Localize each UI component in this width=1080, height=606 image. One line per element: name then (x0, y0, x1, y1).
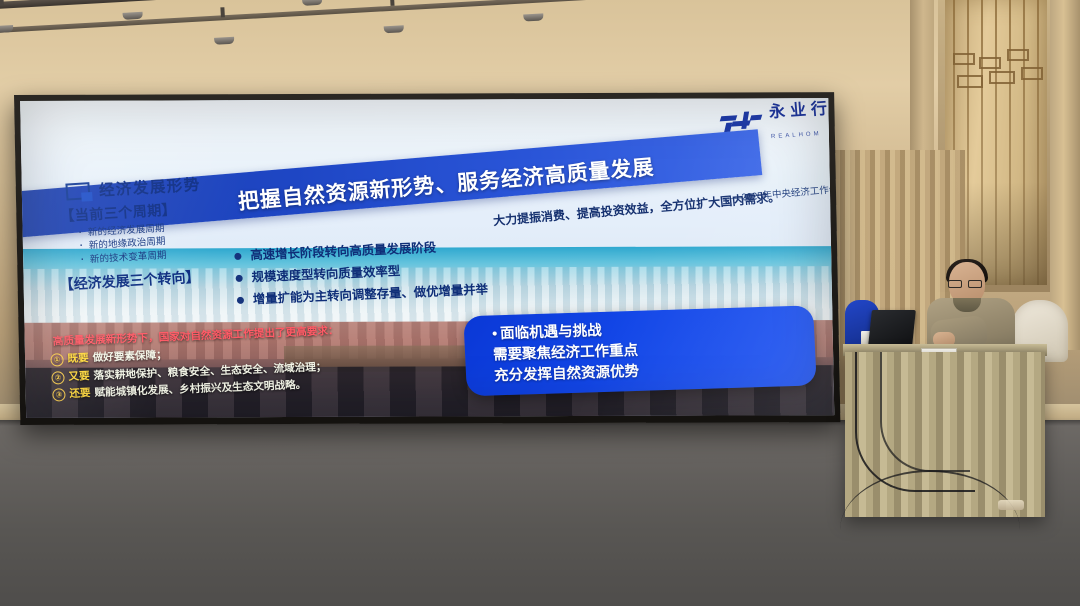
laptop-screen (868, 310, 916, 346)
item-number: ① (50, 353, 64, 366)
spotlight-icon (297, 0, 325, 9)
spotlight-icon (0, 0, 17, 36)
item-emphasis: 还要 (69, 385, 91, 403)
glasses-icon (948, 280, 985, 288)
spotlight-icon (209, 7, 237, 48)
callout-box: 面临机遇与挑战 需要聚焦经济工作重点 充分发挥自然资源优势 (463, 305, 816, 396)
item-emphasis: 又要 (68, 368, 90, 386)
led-wall-screen[interactable]: 永业行 REALHOM 把握自然资源新形势、服务经济高质量发展 ——2025年中… (14, 92, 840, 425)
spotlight-icon (519, 0, 547, 25)
floor-object (998, 500, 1024, 510)
spotlight-icon (379, 0, 407, 37)
cycles-list: 新的经济发展周期 新的地缘政治周期 新的技术变革周期 (75, 222, 167, 267)
presentation-slide: 永业行 REALHOM 把握自然资源新形势、服务经济高质量发展 ——2025年中… (20, 98, 834, 418)
item-number: ③ (52, 388, 66, 401)
logo-text-cn: 永业行 (768, 98, 833, 122)
power-cable (880, 352, 970, 472)
item-number: ② (51, 371, 65, 384)
wall-pillar (1050, 0, 1080, 350)
square-badge-icon (65, 182, 90, 200)
turns-list: 高速增长阶段转向高质量发展阶段 规模速度型转向质量效率型 增量扩能为主转向调整存… (234, 235, 489, 311)
spotlight-icon (118, 0, 146, 23)
item-emphasis: 既要 (67, 350, 89, 368)
slide-surface: 永业行 REALHOM 把握自然资源新形势、服务经济高质量发展 ——2025年中… (20, 98, 834, 418)
screen-bezel: 永业行 REALHOM 把握自然资源新形势、服务经济高质量发展 ——2025年中… (14, 92, 840, 425)
requirements-list: ① 既要 做好要素保障； ② 又要 落实耕地保护、粮食安全、生态安全、流域治理；… (50, 341, 328, 404)
conference-hall-photo: 永业行 REALHOM 把握自然资源新形势、服务经济高质量发展 ——2025年中… (0, 0, 1080, 606)
